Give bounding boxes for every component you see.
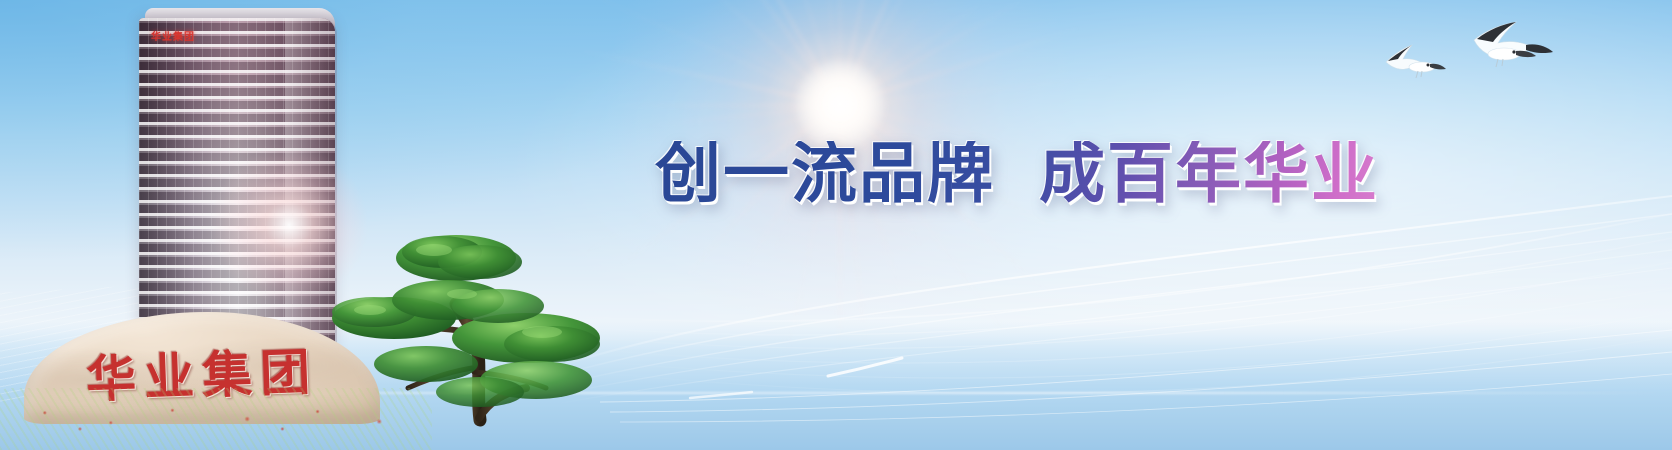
seagull-icon (1474, 22, 1553, 67)
slogan-phrase-2: 成百年华业 (1039, 135, 1379, 212)
seagull-icon (1386, 45, 1446, 78)
office-tower-building: 华业集团 (139, 18, 335, 348)
seagulls-group (1378, 14, 1558, 114)
company-hero-banner: 华业集团 (0, 0, 1672, 450)
slogan-text: 创一流品牌成百年华业 (655, 141, 1379, 207)
hedge-shrubs (0, 388, 432, 450)
slogan-phrase-1: 创一流品牌 (655, 135, 995, 212)
building-rooftop-sign: 华业集团 (151, 28, 195, 43)
hedge-flowers (0, 388, 432, 450)
